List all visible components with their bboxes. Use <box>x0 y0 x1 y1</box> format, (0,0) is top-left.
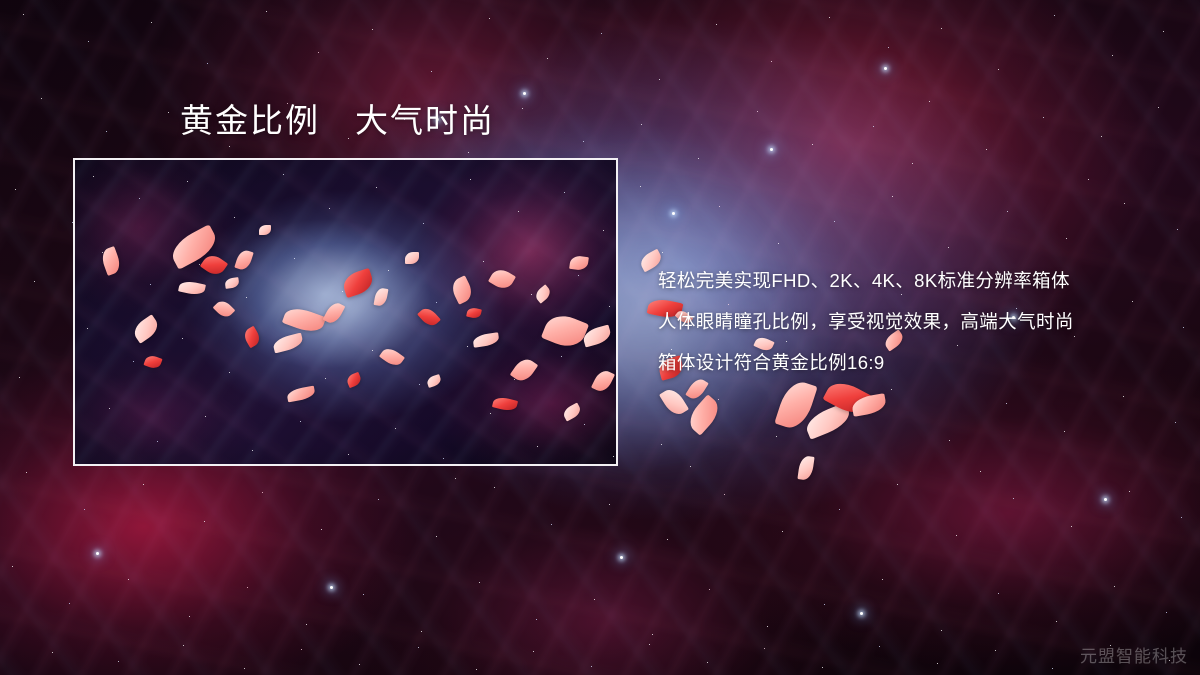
product-image-frame[interactable] <box>73 158 618 466</box>
bright-star <box>884 67 887 70</box>
watermark: 元盟智能科技 <box>1080 642 1188 667</box>
bright-star <box>523 92 526 95</box>
body-text-line: 箱体设计符合黄金比例16:9 <box>658 342 1178 383</box>
bright-star <box>860 612 863 615</box>
bright-star <box>770 148 773 151</box>
body-text-line: 轻松完美实现FHD、2K、4K、8K标准分辨率箱体 <box>658 260 1178 301</box>
bright-star <box>1104 498 1107 501</box>
page-title: 黄金比例 大气时尚 <box>180 100 495 141</box>
bright-star <box>620 556 623 559</box>
product-image-filaments <box>73 158 618 466</box>
bright-star <box>672 212 675 215</box>
body-text-block: 轻松完美实现FHD、2K、4K、8K标准分辨率箱体人体眼睛瞳孔比例，享受视觉效果… <box>658 260 1178 383</box>
slide-canvas: 黄金比例 大气时尚 轻松完美实现FHD、2K、4K、8K标准分辨率箱体人体眼睛瞳… <box>0 0 1200 675</box>
bright-star <box>330 586 333 589</box>
body-text-line: 人体眼睛瞳孔比例，享受视觉效果，高端大气时尚 <box>658 301 1178 342</box>
bright-star <box>96 552 99 555</box>
